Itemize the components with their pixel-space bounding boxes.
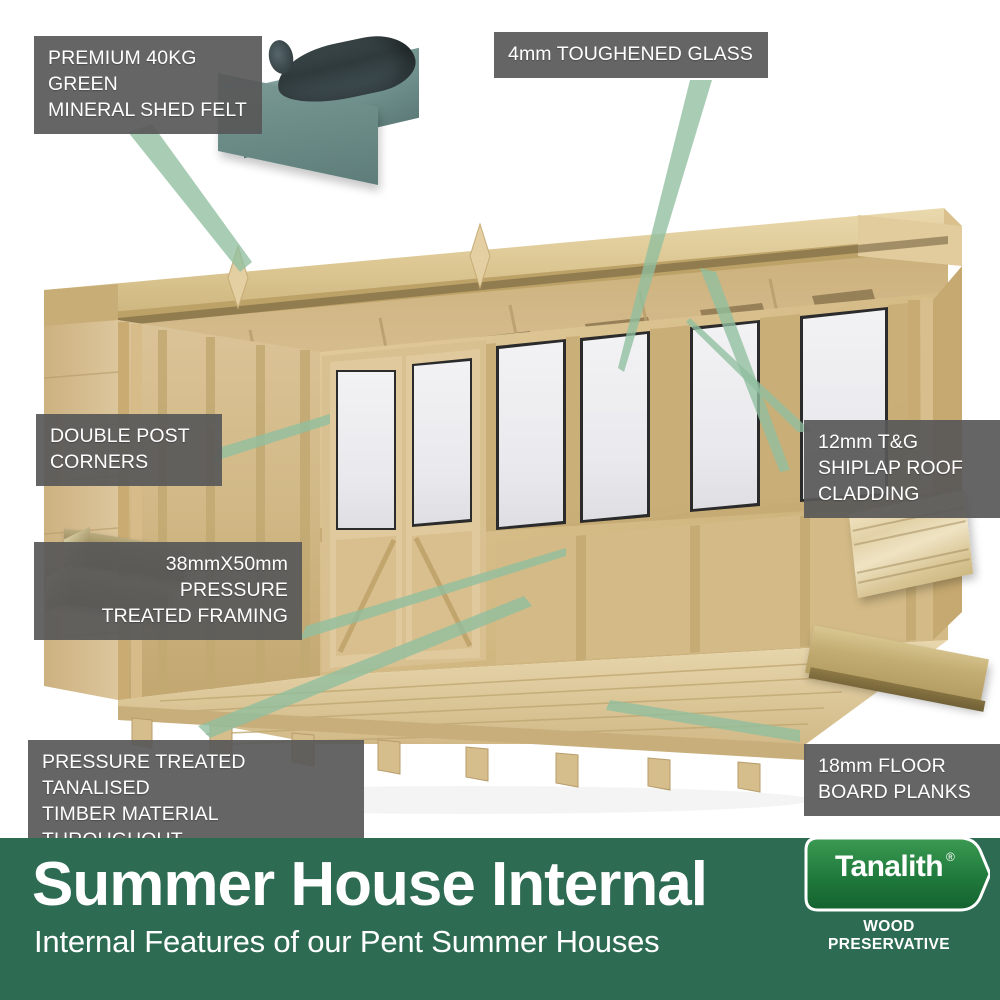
callout-line: 4mm TOUGHENED GLASS xyxy=(508,41,754,67)
callout-double-post-corners: DOUBLE POST CORNERS xyxy=(36,414,222,486)
callout-line: 12mm T&G xyxy=(818,429,986,455)
callout-line: CORNERS xyxy=(50,449,208,475)
callout-line: DOUBLE POST xyxy=(50,423,208,449)
callout-line: MINERAL SHED FELT xyxy=(48,97,248,123)
tanalith-tagline: WOOD PRESERVATIVE xyxy=(804,918,974,954)
pointer-floorboards xyxy=(606,700,800,742)
callout-line: PREMIUM 40KG GREEN xyxy=(48,45,248,97)
callout-pressure-treated-framing: 38mmX50mm PRESSURE TREATED FRAMING xyxy=(34,542,302,640)
floor-plank-sample xyxy=(808,634,994,744)
callout-premium-shed-felt: PREMIUM 40KG GREEN MINERAL SHED FELT xyxy=(34,36,262,134)
callout-shiplap-roof-cladding: 12mm T&G SHIPLAP ROOF CLADDING xyxy=(804,420,1000,518)
registered-mark-icon: ® xyxy=(946,850,955,864)
page-subtitle: Internal Features of our Pent Summer Hou… xyxy=(34,924,659,960)
page-title: Summer House Internal xyxy=(32,852,707,918)
pointer-framing xyxy=(300,548,566,640)
title-banner: Summer House Internal Internal Features … xyxy=(0,838,1000,1000)
pointer-shiplap xyxy=(686,318,812,432)
callout-line: CLADDING xyxy=(818,481,986,507)
callout-line: 38mmX50mm xyxy=(48,551,288,577)
callout-line: 18mm FLOOR xyxy=(818,753,986,779)
callout-line: SHIPLAP ROOF xyxy=(818,455,986,481)
infographic-canvas: PREMIUM 40KG GREEN MINERAL SHED FELT 4mm… xyxy=(0,0,1000,1000)
callout-line: BOARD PLANKS xyxy=(818,779,986,805)
callout-toughened-glass: 4mm TOUGHENED GLASS xyxy=(494,32,768,78)
callout-line: TREATED FRAMING xyxy=(48,603,288,629)
tanalith-logo: Tanalith ® WOOD PRESERVATIVE xyxy=(804,838,990,954)
pointer-double-post xyxy=(212,414,330,462)
callout-floor-board-planks: 18mm FLOOR BOARD PLANKS xyxy=(804,744,1000,816)
callout-line: PRESSURE TREATED TANALISED xyxy=(42,749,350,801)
callout-line: PRESSURE xyxy=(48,577,288,603)
